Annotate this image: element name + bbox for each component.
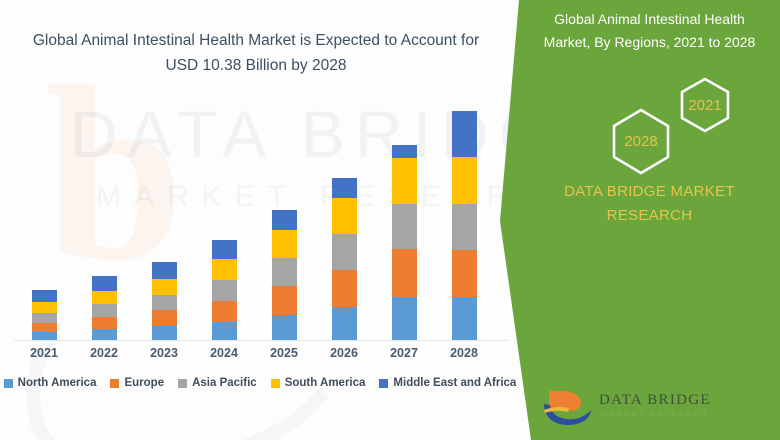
x-axis-label-2025: 2025: [254, 346, 314, 360]
bar-segment-2028-south-america: [452, 157, 477, 204]
bar-segment-2023-asia-pacific: [152, 295, 177, 311]
bar-segment-2027-north-america: [392, 297, 417, 340]
legend-item-asia-pacific[interactable]: Asia Pacific: [178, 377, 257, 389]
hexagon-group: 2021 2028: [519, 0, 780, 200]
x-axis-label-2027: 2027: [374, 346, 434, 360]
bar-segment-2026-south-america: [332, 198, 357, 234]
databridge-logo: DATA BRIDGE MARKET RESEARCH: [541, 388, 771, 432]
x-axis-label-2026: 2026: [314, 346, 374, 360]
bar-segment-2025-asia-pacific: [272, 258, 297, 286]
bar-segment-2027-europe: [392, 249, 417, 297]
bar-segment-2026-middle-east-and-africa: [332, 178, 357, 198]
databridge-logo-name: DATA BRIDGE: [599, 392, 711, 409]
bar-segment-2027-middle-east-and-africa: [392, 145, 417, 158]
legend-item-north-america[interactable]: North America: [4, 377, 97, 389]
panel-brand-line2: RESEARCH: [607, 207, 693, 224]
bar-segment-2025-north-america: [272, 315, 297, 340]
bar-segment-2027-south-america: [392, 158, 417, 204]
legend-label: Europe: [124, 377, 164, 389]
bar-2022: [92, 276, 117, 340]
bar-segment-2028-europe: [452, 250, 477, 297]
bar-segment-2024-south-america: [212, 259, 237, 280]
bar-segment-2021-europe: [32, 323, 57, 332]
x-axis-label-2024: 2024: [194, 346, 254, 360]
bar-segment-2025-south-america: [272, 230, 297, 258]
bar-2024: [212, 240, 237, 340]
bar-2023: [152, 262, 177, 340]
legend-item-middle-east-and-africa[interactable]: Middle East and Africa: [379, 377, 516, 389]
legend-label: South America: [285, 377, 366, 389]
bar-segment-2028-north-america: [452, 297, 477, 340]
hexagon-2028-label: 2028: [613, 133, 669, 150]
legend-swatch-icon: [178, 379, 187, 388]
legend-swatch-icon: [4, 379, 13, 388]
bar-segment-2026-north-america: [332, 307, 357, 340]
bar-segment-2021-south-america: [32, 302, 57, 313]
databridge-logo-tagline: MARKET RESEARCH: [600, 410, 709, 418]
legend-label: North America: [18, 377, 97, 389]
bar-segment-2023-south-america: [152, 279, 177, 295]
bar-2027: [392, 145, 417, 340]
bar-2028: [452, 111, 477, 340]
chart-baseline: [14, 340, 508, 341]
legend-item-europe[interactable]: Europe: [110, 377, 164, 389]
legend-label: Asia Pacific: [192, 377, 257, 389]
chart-x-axis: 20212022202320242025202620272028: [0, 346, 520, 366]
panel-brand: DATA BRIDGE MARKET RESEARCH: [529, 180, 770, 228]
bar-segment-2023-north-america: [152, 326, 177, 340]
bar-segment-2021-north-america: [32, 332, 57, 340]
hexagon-2021-label: 2021: [677, 97, 733, 114]
x-axis-label-2028: 2028: [434, 346, 494, 360]
bar-2025: [272, 210, 297, 340]
bar-segment-2022-middle-east-and-africa: [92, 276, 117, 291]
legend-swatch-icon: [379, 379, 388, 388]
chart-title: Global Animal Intestinal Health Market i…: [26, 28, 486, 78]
legend-label: Middle East and Africa: [393, 377, 516, 389]
x-axis-label-2021: 2021: [14, 346, 74, 360]
bar-segment-2025-middle-east-and-africa: [272, 210, 297, 230]
chart-legend: North AmericaEuropeAsia PacificSouth Ame…: [0, 374, 520, 392]
bar-segment-2023-europe: [152, 310, 177, 326]
bar-segment-2028-middle-east-and-africa: [452, 111, 477, 157]
bar-2021: [32, 290, 57, 340]
bar-segment-2024-europe: [212, 301, 237, 322]
bar-segment-2028-asia-pacific: [452, 204, 477, 250]
bar-segment-2023-middle-east-and-africa: [152, 262, 177, 279]
legend-swatch-icon: [271, 379, 280, 388]
hexagon-svg: [519, 0, 780, 200]
bar-segment-2026-europe: [332, 270, 357, 307]
bar-segment-2022-north-america: [92, 329, 117, 340]
bar-2026: [332, 178, 357, 340]
bar-segment-2024-asia-pacific: [212, 280, 237, 301]
x-axis-label-2022: 2022: [74, 346, 134, 360]
bar-segment-2022-south-america: [92, 291, 117, 304]
bar-segment-2027-asia-pacific: [392, 204, 417, 249]
chart-plot-area: [0, 100, 520, 341]
bar-segment-2021-asia-pacific: [32, 313, 57, 323]
bar-segment-2022-europe: [92, 317, 117, 329]
bar-segment-2024-north-america: [212, 322, 237, 340]
bar-segment-2021-middle-east-and-africa: [32, 290, 57, 302]
infographic-canvas: b DATA BRIDGE MARKET RESEARCH Global Ani…: [0, 0, 780, 440]
bar-segment-2026-asia-pacific: [332, 234, 357, 270]
legend-swatch-icon: [110, 379, 119, 388]
legend-item-south-america[interactable]: South America: [271, 377, 366, 389]
bar-segment-2022-asia-pacific: [92, 304, 117, 317]
bar-segment-2024-middle-east-and-africa: [212, 240, 237, 259]
right-panel-content: Global Animal Intestinal Health Market, …: [519, 0, 780, 440]
bar-segment-2025-europe: [272, 286, 297, 315]
databridge-logo-mark: [541, 388, 593, 428]
panel-brand-line1: DATA BRIDGE MARKET: [564, 183, 735, 200]
x-axis-label-2023: 2023: [134, 346, 194, 360]
